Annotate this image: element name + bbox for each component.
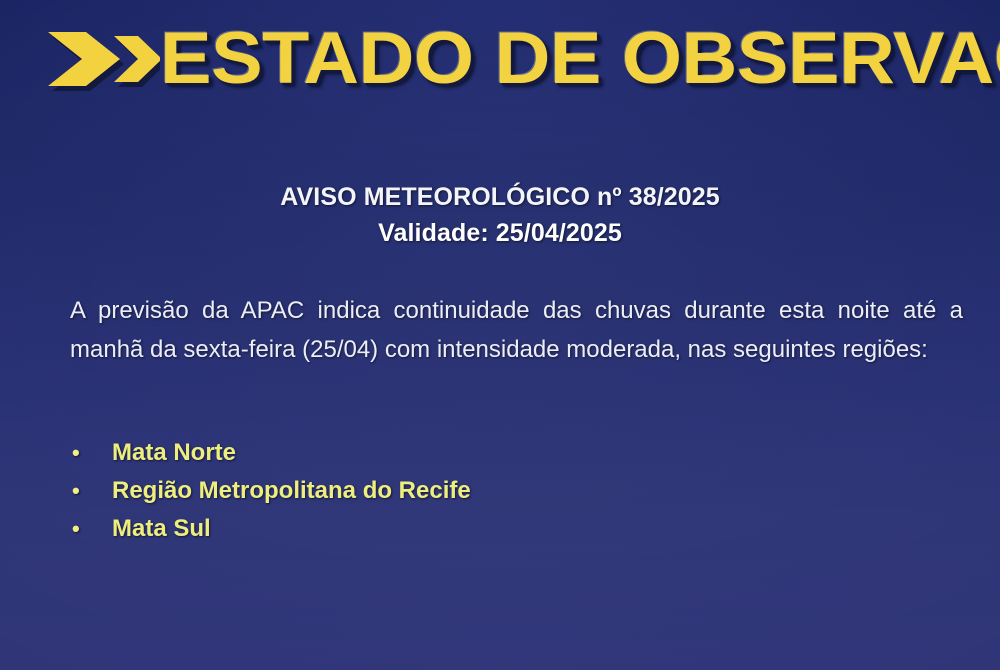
weather-alert-slide: ESTADO DE OBSERVAÇÃO AVISO METEOROLÓGICO… bbox=[0, 0, 1000, 670]
region-label: Mata Sul bbox=[112, 515, 211, 543]
bullet-icon: • bbox=[66, 518, 112, 540]
forecast-paragraph: A previsão da APAC indica continuidade d… bbox=[70, 291, 963, 369]
bullet-icon: • bbox=[66, 442, 112, 464]
region-label: Mata Norte bbox=[112, 439, 236, 467]
region-label: Região Metropolitana do Recife bbox=[112, 477, 471, 505]
notice-number: AVISO METEOROLÓGICO nº 38/2025 bbox=[0, 182, 1000, 212]
list-item: • Mata Sul bbox=[66, 510, 666, 548]
header-banner: ESTADO DE OBSERVAÇÃO bbox=[0, 0, 1000, 112]
list-item: • Mata Norte bbox=[66, 434, 666, 472]
list-item: • Região Metropolitana do Recife bbox=[66, 472, 666, 510]
notice-heading: AVISO METEOROLÓGICO nº 38/2025 Validade:… bbox=[0, 182, 1000, 248]
notice-validity: Validade: 25/04/2025 bbox=[0, 218, 1000, 248]
double-chevron-right-icon bbox=[38, 24, 160, 94]
bullet-icon: • bbox=[66, 480, 112, 502]
page-title: ESTADO DE OBSERVAÇÃO bbox=[160, 14, 1000, 104]
region-list: • Mata Norte • Região Metropolitana do R… bbox=[66, 434, 666, 548]
